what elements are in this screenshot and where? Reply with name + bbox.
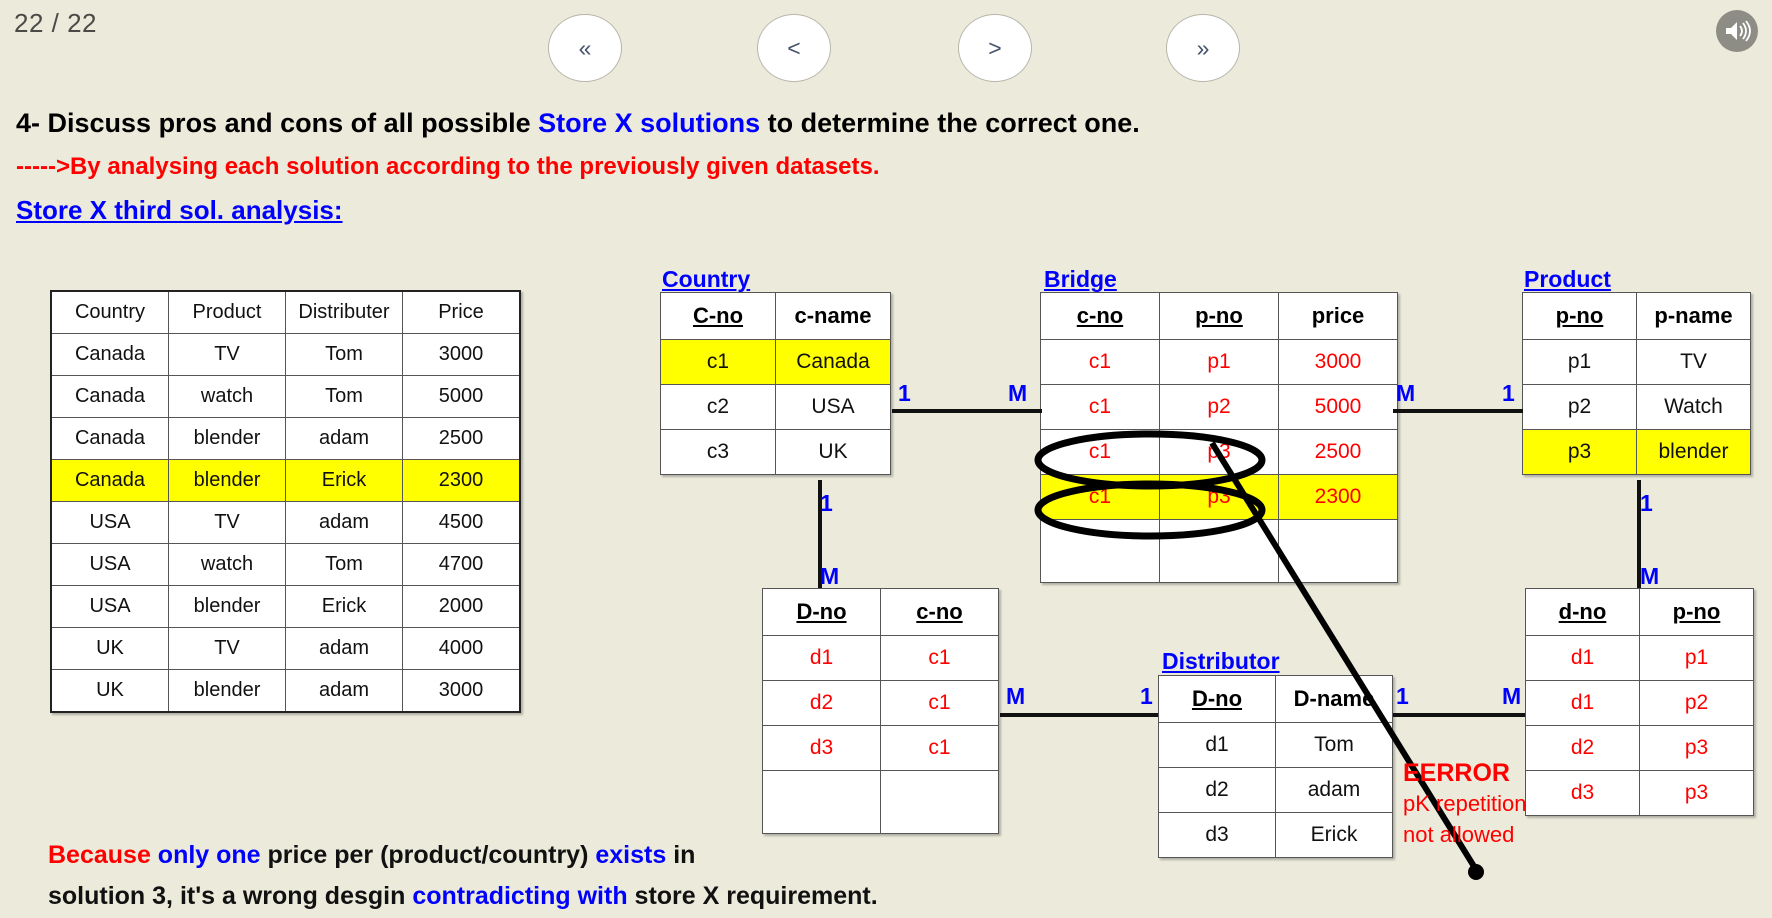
cell-country: UK <box>51 628 169 670</box>
cell-c-no <box>1041 520 1160 583</box>
table-row: d3 p3 <box>1526 771 1754 816</box>
table-header-row: d-no p-no <box>1526 589 1754 636</box>
table-row: d3 Erick <box>1159 813 1393 858</box>
cell-d-name: adam <box>1276 768 1393 813</box>
table-row: d2 p3 <box>1526 726 1754 771</box>
cardinality-country-bridge-one: 1 <box>898 380 911 407</box>
cell-distributer: Erick <box>286 586 403 628</box>
table-row: c1 p3 2500 <box>1041 430 1398 475</box>
cell-country: UK <box>51 670 169 713</box>
column-header-c-name: c-name <box>776 293 891 340</box>
cell-c-no: c1 <box>1041 475 1160 520</box>
table-header-row: Country Product Distributer Price <box>51 291 520 334</box>
distributor-product-table: d-no p-no d1 p1 d1 p2 d2 p3 d3 p3 <box>1525 588 1754 816</box>
column-header-distributer: Distributer <box>286 291 403 334</box>
table-header-row: D-no c-no <box>763 589 999 636</box>
cell-country: Canada <box>51 376 169 418</box>
table-row: Canada watch Tom 5000 <box>51 376 520 418</box>
question-line: 4- Discuss pros and cons of all possible… <box>16 108 1140 139</box>
cell-country: Canada <box>51 334 169 376</box>
table-header-row: p-no p-name <box>1523 293 1751 340</box>
connector-bridge-product <box>1393 409 1523 413</box>
cell-p-name: blender <box>1637 430 1751 475</box>
cell-c-no: c1 <box>881 636 999 681</box>
conclusion-requirement: store X requirement. <box>628 882 878 910</box>
cell-country: Canada <box>51 460 169 502</box>
question-suffix: to determine the correct one. <box>760 108 1140 138</box>
question-prefix: 4- Discuss pros and cons of all possible <box>16 108 538 138</box>
cell-price: 5000 <box>403 376 521 418</box>
cell-price <box>1279 520 1398 583</box>
error-line-1: pK repetition <box>1403 788 1527 820</box>
cell-c-no: c1 <box>881 726 999 771</box>
cardinality-bridge-product-one: 1 <box>1502 380 1515 407</box>
column-header-product: Product <box>169 291 286 334</box>
table-row: c2 USA <box>661 385 891 430</box>
table-header-row: c-no p-no price <box>1041 293 1398 340</box>
conclusion-text: Because only one price per (product/coun… <box>48 835 878 918</box>
table-header-row: D-no D-name <box>1159 676 1393 723</box>
cell-p-no: p1 <box>1160 340 1279 385</box>
table-row: c3 UK <box>661 430 891 475</box>
cell-price: 2000 <box>403 586 521 628</box>
cell-c-name: Canada <box>776 340 891 385</box>
column-header-c-no-label: C-no <box>693 303 743 328</box>
cell-d-no: d2 <box>763 681 881 726</box>
column-header-d-no: D-no <box>1159 676 1276 723</box>
cell-distributer: adam <box>286 418 403 460</box>
cell-distributer: Tom <box>286 376 403 418</box>
cell-p-no: p3 <box>1640 726 1754 771</box>
cell-d-no: d3 <box>1526 771 1640 816</box>
column-header-price: Price <box>403 291 521 334</box>
error-line-2: not allowed <box>1403 819 1527 851</box>
column-header-p-no-label: p-no <box>1673 599 1721 624</box>
cell-p-no: p1 <box>1640 636 1754 681</box>
cell-product: blender <box>169 460 286 502</box>
cell-d-no: d2 <box>1526 726 1640 771</box>
column-header-c-no-label: c-no <box>1077 303 1123 328</box>
cell-price: 4000 <box>403 628 521 670</box>
table-row: UK blender adam 3000 <box>51 670 520 713</box>
table-row: Canada blender adam 2500 <box>51 418 520 460</box>
table-row: USA watch Tom 4700 <box>51 544 520 586</box>
table-row-highlighted: Canada blender Erick 2300 <box>51 460 520 502</box>
cell-price: 2300 <box>403 460 521 502</box>
error-title: EERROR <box>1403 760 1527 788</box>
cell-p-name: Watch <box>1637 385 1751 430</box>
cell-d-no: d1 <box>1159 723 1276 768</box>
cell-distributer: Erick <box>286 460 403 502</box>
cell-c-no <box>881 771 999 834</box>
cell-product: TV <box>169 628 286 670</box>
cell-country: USA <box>51 586 169 628</box>
table-row-highlighted: p3 blender <box>1523 430 1751 475</box>
cell-c-name: USA <box>776 385 891 430</box>
method-line: ----->By analysing each solution accordi… <box>16 153 880 181</box>
table-row-empty <box>1041 520 1398 583</box>
table-row: d1 p2 <box>1526 681 1754 726</box>
cell-price: 2500 <box>403 418 521 460</box>
cell-p-name: TV <box>1637 340 1751 385</box>
table-row: UK TV adam 4000 <box>51 628 520 670</box>
cell-distributer: adam <box>286 628 403 670</box>
table-row: p1 TV <box>1523 340 1751 385</box>
conclusion-in: in <box>666 841 695 869</box>
cell-product: watch <box>169 376 286 418</box>
column-header-d-no: D-no <box>763 589 881 636</box>
distributor-table: D-no D-name d1 Tom d2 adam d3 Erick <box>1158 675 1393 858</box>
pointer-endpoint-dot <box>1468 864 1484 880</box>
column-header-c-no: C-no <box>661 293 776 340</box>
conclusion-exists: exists <box>595 841 666 869</box>
next-page-button[interactable]: > <box>958 14 1032 82</box>
cell-c-no: c1 <box>1041 385 1160 430</box>
column-header-price: price <box>1279 293 1398 340</box>
cell-d-no: d1 <box>1526 681 1640 726</box>
cell-distributer: adam <box>286 670 403 713</box>
column-header-d-no-label: d-no <box>1559 599 1607 624</box>
table-row: Canada TV Tom 3000 <box>51 334 520 376</box>
bridge-table: c-no p-no price c1 p1 3000 c1 p2 5000 c1… <box>1040 292 1398 583</box>
cell-c-no: c2 <box>661 385 776 430</box>
cell-product: blender <box>169 586 286 628</box>
cell-country: USA <box>51 502 169 544</box>
cell-d-no: d3 <box>763 726 881 771</box>
cell-p-no <box>1160 520 1279 583</box>
table-row: d2 c1 <box>763 681 999 726</box>
column-header-p-no: p-no <box>1160 293 1279 340</box>
cell-price: 3000 <box>403 334 521 376</box>
cell-price: 5000 <box>1279 385 1398 430</box>
cell-c-no: c1 <box>1041 340 1160 385</box>
cardinality-country-bridge-many: M <box>1008 380 1027 407</box>
section-subtitle: Store X third sol. analysis: <box>16 195 343 226</box>
column-header-p-name: p-name <box>1637 293 1751 340</box>
table-row: c1 p1 3000 <box>1041 340 1398 385</box>
table-row-highlighted: c1 p3 2300 <box>1041 475 1398 520</box>
page-counter: 22 / 22 <box>14 8 97 39</box>
conclusion-price-per: price per (product/country) <box>261 841 596 869</box>
conclusion-because: Because <box>48 841 158 869</box>
cell-p-no: p3 <box>1160 475 1279 520</box>
table-header-row: C-no c-name <box>661 293 891 340</box>
cell-product: watch <box>169 544 286 586</box>
connector-distributor-distprod <box>1393 713 1525 717</box>
speaker-icon[interactable] <box>1716 10 1758 52</box>
question-highlight: Store X solutions <box>538 108 760 138</box>
table-row: d2 adam <box>1159 768 1393 813</box>
distributor-table-title: Distributor <box>1162 648 1280 675</box>
country-distributor-table: D-no c-no d1 c1 d2 c1 d3 c1 <box>762 588 999 834</box>
cardinality-dist-dp-one: 1 <box>1396 683 1409 710</box>
cell-product: TV <box>169 502 286 544</box>
cell-c-no: c1 <box>1041 430 1160 475</box>
column-header-d-no-label: D-no <box>1192 686 1242 711</box>
bridge-table-title: Bridge <box>1044 266 1117 293</box>
column-header-p-no-label: p-no <box>1556 303 1604 328</box>
cell-p-no: p3 <box>1160 430 1279 475</box>
cell-p-no: p2 <box>1523 385 1637 430</box>
cell-c-no: c1 <box>661 340 776 385</box>
cell-p-no: p1 <box>1523 340 1637 385</box>
cell-country: Canada <box>51 418 169 460</box>
column-header-c-no: c-no <box>881 589 999 636</box>
previous-page-button[interactable]: < <box>757 14 831 82</box>
conclusion-line-2: solution 3, it's a wrong desgin contradi… <box>48 876 878 917</box>
column-header-d-no: d-no <box>1526 589 1640 636</box>
cell-d-name: Tom <box>1276 723 1393 768</box>
product-table-title: Product <box>1524 266 1611 293</box>
column-header-country: Country <box>51 291 169 334</box>
cell-d-no: d3 <box>1159 813 1276 858</box>
table-row: c1 p2 5000 <box>1041 385 1398 430</box>
cell-distributer: Tom <box>286 544 403 586</box>
cell-price: 3000 <box>1279 340 1398 385</box>
table-row: d1 Tom <box>1159 723 1393 768</box>
cell-country: USA <box>51 544 169 586</box>
table-row: d3 c1 <box>763 726 999 771</box>
cardinality-cd-dist-many: M <box>1006 683 1025 710</box>
table-row: d1 p1 <box>1526 636 1754 681</box>
table-row-highlighted: c1 Canada <box>661 340 891 385</box>
cell-p-no: p2 <box>1160 385 1279 430</box>
conclusion-only-one: only one <box>158 841 261 869</box>
column-header-c-no: c-no <box>1041 293 1160 340</box>
cardinality-cd-dist-one: 1 <box>1140 683 1153 710</box>
cell-c-name: UK <box>776 430 891 475</box>
cell-product: blender <box>169 418 286 460</box>
table-row: USA blender Erick 2000 <box>51 586 520 628</box>
cell-c-no: c3 <box>661 430 776 475</box>
first-page-button[interactable]: « <box>548 14 622 82</box>
table-row: d1 c1 <box>763 636 999 681</box>
cell-p-no: p2 <box>1640 681 1754 726</box>
column-header-p-no-label: p-no <box>1195 303 1243 328</box>
cell-distributer: Tom <box>286 334 403 376</box>
cell-d-no: d1 <box>1526 636 1640 681</box>
column-header-c-no-label: c-no <box>916 599 962 624</box>
product-table: p-no p-name p1 TV p2 Watch p3 blender <box>1522 292 1751 475</box>
top-navigation-bar: 22 / 22 « < > » <box>0 0 1772 96</box>
column-header-d-name: D-name <box>1276 676 1393 723</box>
cell-price: 2300 <box>1279 475 1398 520</box>
cell-d-no <box>763 771 881 834</box>
cell-price: 3000 <box>403 670 521 713</box>
conclusion-line-1: Because only one price per (product/coun… <box>48 835 878 876</box>
country-table: C-no c-name c1 Canada c2 USA c3 UK <box>660 292 891 475</box>
cardinality-bridge-product-many: M <box>1396 380 1415 407</box>
conclusion-solution3: solution 3, it's a wrong desgin <box>48 882 412 910</box>
cell-price: 4500 <box>403 502 521 544</box>
cell-c-no: c1 <box>881 681 999 726</box>
column-header-d-no-label: D-no <box>796 599 846 624</box>
column-header-p-no: p-no <box>1640 589 1754 636</box>
cardinality-product-dp-one: 1 <box>1640 490 1653 517</box>
connector-countrydist-distributor <box>1000 713 1158 717</box>
cell-price: 2500 <box>1279 430 1398 475</box>
cell-price: 4700 <box>403 544 521 586</box>
last-page-button[interactable]: » <box>1166 14 1240 82</box>
cardinality-country-cd-many: M <box>820 563 839 590</box>
cardinality-country-cd-one: 1 <box>820 490 833 517</box>
table-row: USA TV adam 4500 <box>51 502 520 544</box>
cardinality-dist-dp-many: M <box>1502 683 1521 710</box>
cardinality-product-dp-many: M <box>1640 563 1659 590</box>
cell-product: TV <box>169 334 286 376</box>
table-row-empty <box>763 771 999 834</box>
column-header-p-no: p-no <box>1523 293 1637 340</box>
country-table-title: Country <box>662 266 750 293</box>
conclusion-contradicting: contradicting with <box>412 882 627 910</box>
cell-p-no: p3 <box>1523 430 1637 475</box>
cell-d-no: d2 <box>1159 768 1276 813</box>
table-row: p2 Watch <box>1523 385 1751 430</box>
cell-distributer: adam <box>286 502 403 544</box>
connector-country-bridge <box>892 409 1042 413</box>
cell-p-no: p3 <box>1640 771 1754 816</box>
raw-dataset-table: Country Product Distributer Price Canada… <box>50 290 521 713</box>
cell-product: blender <box>169 670 286 713</box>
cell-d-no: d1 <box>763 636 881 681</box>
error-annotation: EERROR pK repetition not allowed <box>1403 760 1527 851</box>
cell-d-name: Erick <box>1276 813 1393 858</box>
